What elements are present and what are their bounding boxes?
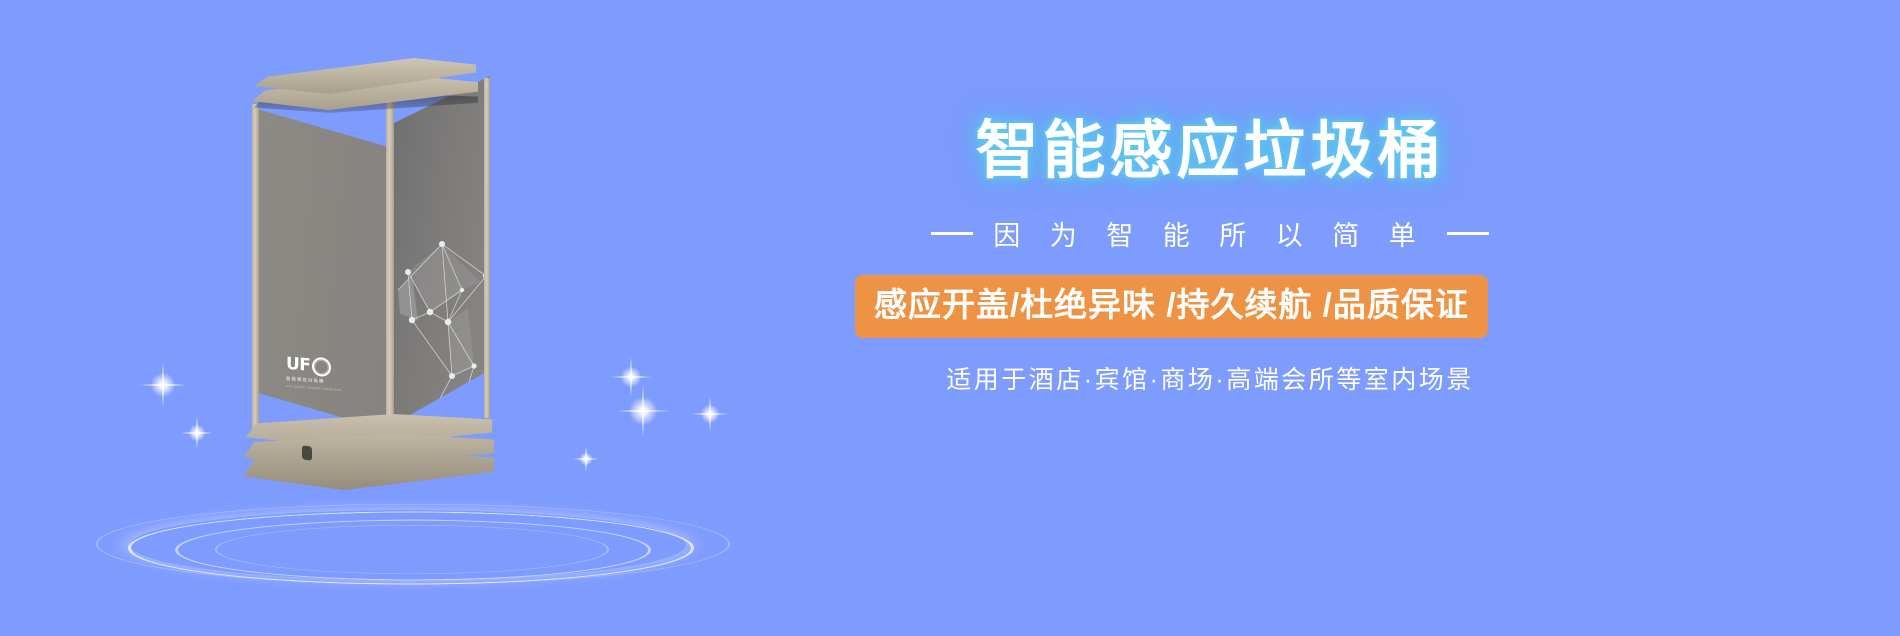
circle-ring-icon — [312, 357, 331, 377]
sensor-ripple-ring — [215, 525, 609, 574]
subtitle-text: 因 为 智 能 所 以 简 单 — [993, 214, 1427, 253]
sparkle-icon — [188, 424, 206, 442]
subtitle-dash-left — [931, 232, 973, 235]
feature-badge-text: 感应开盖/杜绝异味 /持久续航 /品质保证 — [874, 286, 1469, 323]
sparkle-icon — [620, 366, 642, 388]
scene-line: 适用于酒店·宾馆·商场·高端会所等室内场景 — [880, 360, 1540, 396]
sparkle-icon — [700, 404, 720, 424]
sparkle-icon — [150, 372, 176, 398]
ufo-brand-logo: UF 智能感应垃圾桶 UFO SMART SENSOR TRASH CAN — [286, 355, 372, 419]
headline: 智能感应垃圾桶 — [880, 120, 1540, 183]
sparkle-icon — [579, 452, 593, 466]
bin-base-port — [302, 445, 312, 460]
subtitle-row: 因 为 智 能 所 以 简 单 — [880, 214, 1540, 253]
bin-edge-trim — [386, 90, 394, 431]
sparkle-icon — [628, 396, 658, 426]
feature-badge: 感应开盖/杜绝异味 /持久续航 /品质保证 — [855, 275, 1488, 338]
logo-wordmark: UF — [286, 356, 310, 375]
polygon-network-graphic — [390, 76, 490, 426]
subtitle-dash-right — [1447, 232, 1489, 235]
copy-block: 智能感应垃圾桶 因 为 智 能 所 以 简 单 感应开盖/杜绝异味 /持久续航 … — [880, 0, 1880, 636]
product-visual: UF 智能感应垃圾桶 UFO SMART SENSOR TRASH CAN — [0, 0, 840, 636]
promo-banner: UF 智能感应垃圾桶 UFO SMART SENSOR TRASH CAN 智能… — [0, 0, 1900, 636]
bin-edge-trim — [484, 78, 490, 418]
trash-bin-product: UF 智能感应垃圾桶 UFO SMART SENSOR TRASH CAN — [240, 58, 500, 450]
bin-edge-trim — [252, 104, 259, 431]
